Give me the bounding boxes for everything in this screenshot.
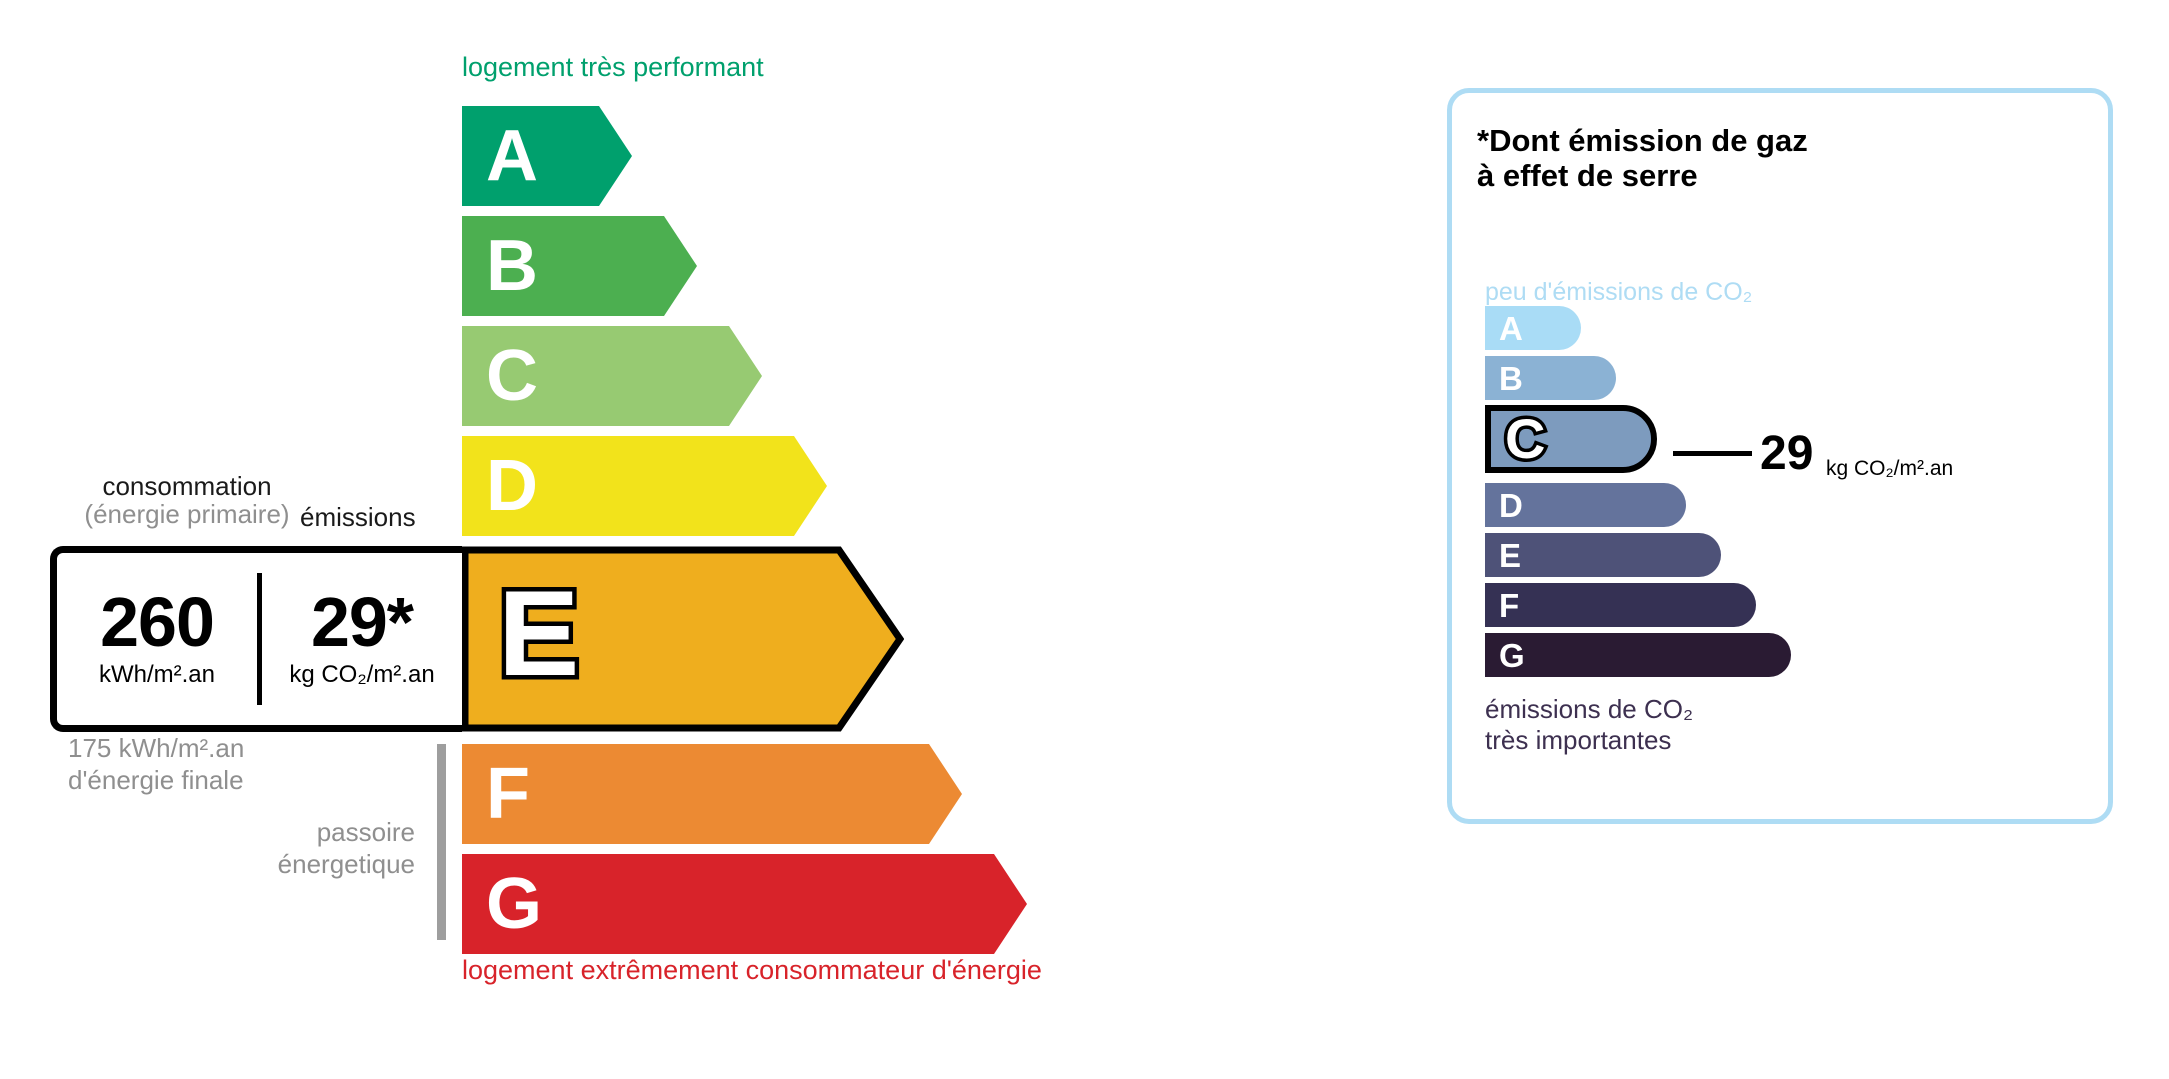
passoire-bracket-line <box>437 744 446 940</box>
ges-value-unit: kg CO₂/m².an <box>289 661 434 689</box>
energy-letter-G: G <box>486 868 542 940</box>
ges-bottom-line1: émissions de CO₂ <box>1485 694 1693 725</box>
ges-letter-D: D <box>1499 489 1523 522</box>
ges-letter-C: C <box>1505 411 1545 467</box>
value-box: 260 kWh/m².an 29* kg CO₂/m².an <box>50 546 462 732</box>
ges-letter-G: G <box>1499 639 1525 672</box>
ges-letter-F: F <box>1499 589 1519 622</box>
energy-letter-F: F <box>486 758 530 830</box>
ges-value-cell: 29* kg CO₂/m².an <box>262 553 462 725</box>
energy-top-caption: logement très performant <box>462 52 764 83</box>
ges-bar-D: D <box>1485 483 1686 527</box>
energy-bar-B: B <box>462 216 697 316</box>
energy-letter-B: B <box>486 230 538 302</box>
energy-bar-F: F <box>462 744 962 844</box>
primary-energy-cell: 260 kWh/m².an <box>57 553 257 725</box>
energy-bar-G-shape <box>462 854 1027 954</box>
ges-value-display: 29 <box>1760 430 1813 478</box>
ges-letter-A: A <box>1499 312 1523 345</box>
energy-bottom-caption: logement extrêmement consommateur d'éner… <box>462 955 1042 986</box>
energy-bar-G: G <box>462 854 1027 954</box>
ges-top-caption: peu d'émissions de CO₂ <box>1485 278 1752 307</box>
passoire-line1: passoire <box>150 817 415 849</box>
ges-title-line2: à effet de serre <box>1477 158 1808 193</box>
ges-bar-E: E <box>1485 533 1721 577</box>
ges-leader-line <box>1673 451 1752 456</box>
ges-title-line1: *Dont émission de gaz <box>1477 123 1808 158</box>
ges-unit-display: kg CO₂/m².an <box>1826 457 1953 481</box>
ges-value-number: 29* <box>311 589 413 656</box>
consumption-label-sub: (énergie primaire) <box>62 500 312 528</box>
energy-bar-D: D <box>462 436 827 536</box>
ges-letter-E: E <box>1499 539 1521 572</box>
ges-bar-B: B <box>1485 356 1616 400</box>
ges-bar-A: A <box>1485 306 1581 350</box>
energy-performance-chart: logement très performant A B C <box>0 0 1380 1079</box>
final-energy-label: 175 kWh/m².an d'énergie finale <box>68 733 244 796</box>
energy-bar-A: A <box>462 106 632 206</box>
energy-letter-C: C <box>486 340 538 412</box>
ges-bar-G: G <box>1485 633 1791 677</box>
ges-bottom-caption: émissions de CO₂ très importantes <box>1485 694 1693 755</box>
ges-bottom-line2: très importantes <box>1485 725 1693 756</box>
ges-letter-B: B <box>1499 362 1523 395</box>
passoire-line2: énergetique <box>150 849 415 881</box>
ges-bar-F: F <box>1485 583 1756 627</box>
primary-energy-value: 260 <box>100 589 214 656</box>
energy-bar-F-shape <box>462 744 962 844</box>
energy-bar-C: C <box>462 326 762 426</box>
final-energy-line2: d'énergie finale <box>68 765 244 797</box>
consumption-label: consommation (énergie primaire) <box>62 472 312 528</box>
emissions-label: émissions <box>300 502 416 533</box>
consumption-label-main: consommation <box>102 471 271 501</box>
primary-energy-unit: kWh/m².an <box>99 661 215 689</box>
energy-letter-A: A <box>486 120 538 192</box>
energy-letter-E: E <box>498 572 579 694</box>
passoire-label: passoire énergetique <box>150 817 415 880</box>
final-energy-line1: 175 kWh/m².an <box>68 733 244 765</box>
ges-panel-title: *Dont émission de gaz à effet de serre <box>1477 123 1808 193</box>
energy-bar-E: E <box>462 546 904 732</box>
energy-letter-D: D <box>486 450 538 522</box>
ges-bar-C-current: C <box>1485 405 1657 473</box>
